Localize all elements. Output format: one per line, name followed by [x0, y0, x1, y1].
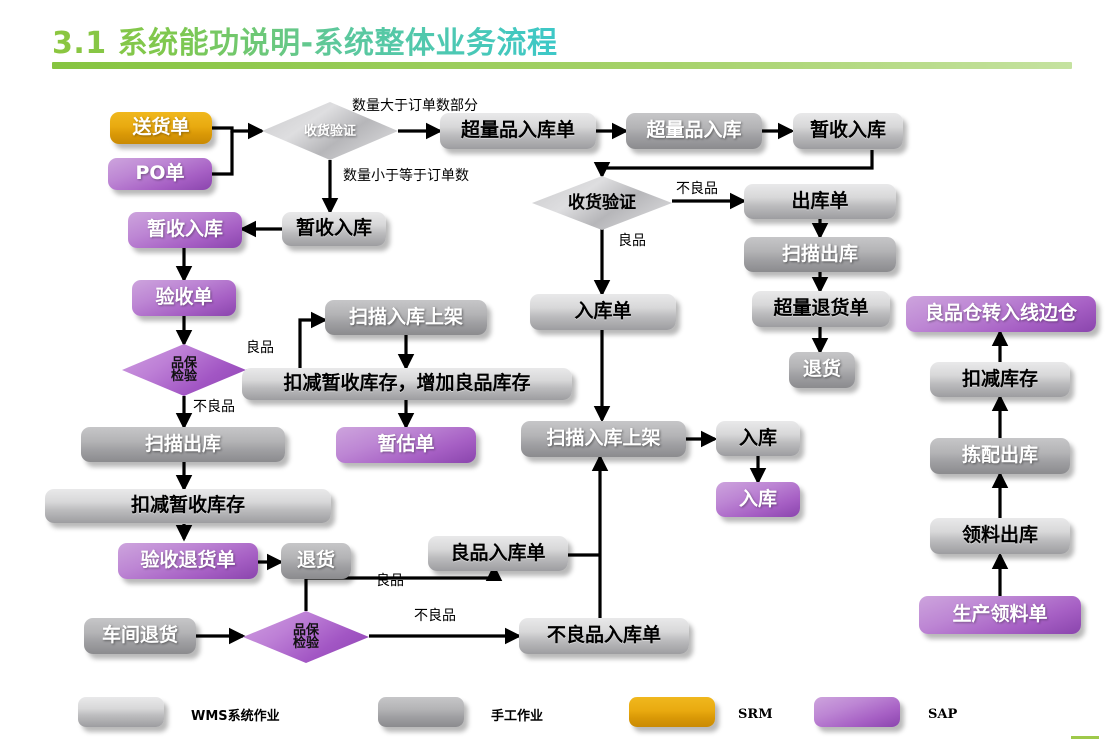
node-po-order[interactable]: PO单	[108, 158, 212, 190]
node-workshop-return[interactable]: 车间退货	[84, 618, 196, 654]
node-defect-inbound-note[interactable]: 不良品入库单	[519, 618, 689, 654]
node-scan-inbound-shelf-left[interactable]: 扫描入库上架	[325, 300, 487, 335]
decision-qa-inspect-bottom[interactable]: 品保 检验	[243, 611, 369, 663]
node-acceptance-note[interactable]: 验收单	[132, 280, 236, 316]
node-return-goods-left[interactable]: 退货	[281, 543, 351, 579]
node-return-goods-right[interactable]: 退货	[789, 352, 855, 388]
legend-label-srm: SRM	[738, 707, 773, 722]
edge-label-good-bottom: 良品	[376, 570, 404, 590]
node-inbound-gray[interactable]: 入库	[716, 421, 800, 456]
node-excess-return-note[interactable]: 超量退货单	[752, 291, 890, 327]
node-provisional-note[interactable]: 暂估单	[336, 427, 476, 463]
node-deduct-temp-stock[interactable]: 扣减暂收库存	[45, 489, 331, 523]
edge-label-qty-less-equal: 数量小于等于订单数	[343, 165, 469, 185]
decision-label: 品保 检验	[293, 624, 319, 650]
legend-label-manual: 手工作业	[491, 705, 543, 724]
node-pick-outbound[interactable]: 拣配出库	[930, 438, 1070, 474]
node-delivery-note[interactable]: 送货单	[110, 112, 212, 144]
node-material-outbound[interactable]: 领料出库	[930, 518, 1070, 554]
slide-canvas: 3.1 系统能功说明-系统整体业务流程	[0, 0, 1107, 751]
node-outbound-note[interactable]: 出库单	[744, 184, 896, 219]
edge-label-qty-greater: 数量大于订单数部分	[352, 95, 478, 115]
node-production-pick-note[interactable]: 生产领料单	[919, 596, 1081, 634]
legend-swatch-sap	[814, 697, 900, 727]
edge-label-defective-left: 不良品	[193, 396, 235, 416]
node-inbound-note-mid[interactable]: 入库单	[530, 294, 676, 330]
edge-label-good-left: 良品	[246, 337, 274, 357]
edge-label-good-top: 良品	[618, 230, 646, 250]
corner-accent-rule	[1071, 736, 1099, 739]
decision-label-line2: 检验	[171, 369, 197, 384]
legend-label-sap: SAP	[928, 707, 957, 722]
node-temp-receive-in-top[interactable]: 暂收入库	[793, 113, 903, 149]
node-good-warehouse-to-line[interactable]: 良品仓转入线边仓	[906, 296, 1096, 332]
node-acceptance-return-note[interactable]: 验收退货单	[118, 543, 258, 579]
node-scan-outbound-right[interactable]: 扫描出库	[744, 237, 896, 272]
decision-receive-verify-second[interactable]: 收货验证	[532, 176, 672, 230]
decision-label: 收货验证	[304, 125, 356, 138]
decision-label: 收货验证	[568, 195, 636, 212]
legend-label-wms: WMS系统作业	[191, 705, 280, 724]
legend-swatch-srm	[629, 697, 715, 727]
legend-swatch-wms	[78, 697, 164, 727]
node-inbound-purple[interactable]: 入库	[716, 482, 800, 517]
legend-swatch-manual	[378, 697, 464, 727]
edge-label-defective-bottom: 不良品	[414, 605, 456, 625]
node-deduct-temp-add-good[interactable]: 扣减暂收库存，增加良品库存	[242, 368, 572, 400]
node-temp-receive-in-left[interactable]: 暂收入库	[128, 212, 242, 248]
node-temp-receive-in-mid[interactable]: 暂收入库	[282, 212, 386, 246]
page-title: 3.1 系统能功说明-系统整体业务流程	[52, 18, 558, 62]
node-scan-inbound-shelf-mid[interactable]: 扫描入库上架	[521, 421, 686, 457]
decision-label-line2: 检验	[293, 636, 319, 651]
node-deduct-stock[interactable]: 扣减库存	[930, 362, 1070, 397]
node-excess-inbound[interactable]: 超量品入库	[626, 113, 762, 149]
node-good-inbound-note[interactable]: 良品入库单	[428, 536, 568, 571]
node-scan-outbound-left[interactable]: 扫描出库	[81, 427, 285, 462]
decision-qa-inspect-left[interactable]: 品保 检验	[122, 344, 246, 396]
decision-label: 品保 检验	[171, 357, 197, 383]
edge-label-defective-top: 不良品	[676, 178, 718, 198]
title-underline-rule	[52, 62, 1072, 69]
node-excess-inbound-note[interactable]: 超量品入库单	[440, 113, 596, 149]
